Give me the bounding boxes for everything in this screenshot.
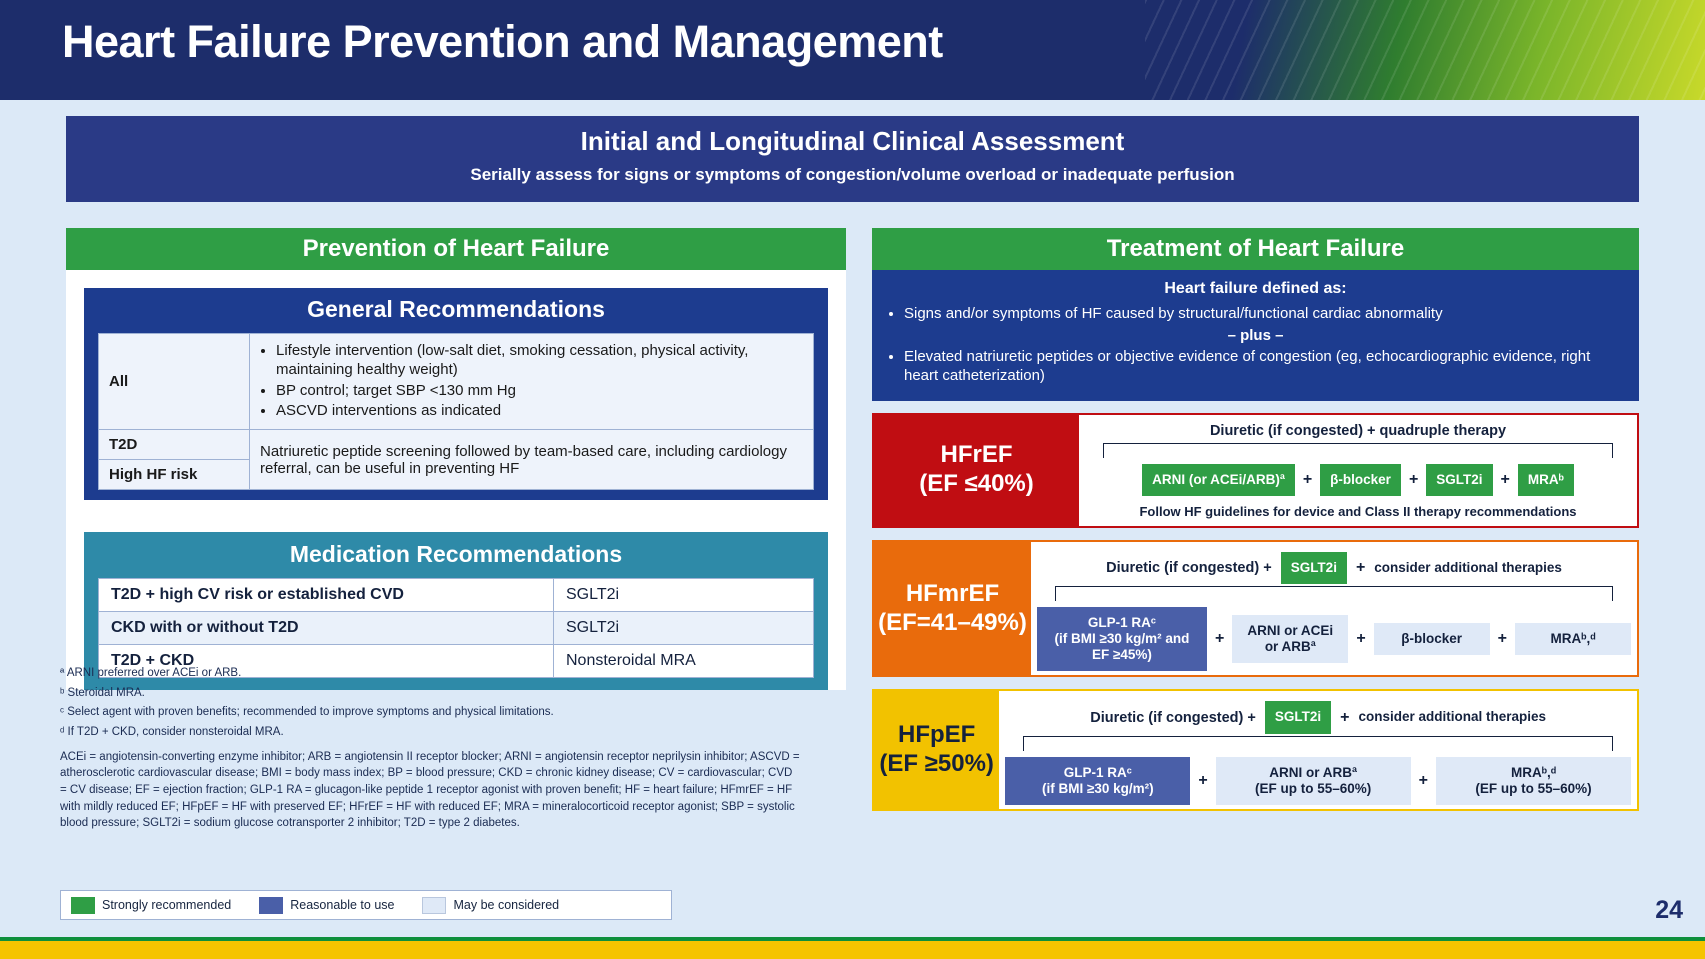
hfref-bracket bbox=[1103, 443, 1613, 458]
hfref-tag-line1: HFrEF bbox=[919, 441, 1034, 470]
heart-failure-definition: Heart failure defined as: Signs and/or s… bbox=[872, 270, 1639, 401]
abbreviations: ACEi = angiotensin-converting enzyme inh… bbox=[60, 749, 800, 832]
assessment-title: Initial and Longitudinal Clinical Assess… bbox=[66, 116, 1639, 157]
footnote-a: ª ARNI preferred over ACEi or ARB. bbox=[60, 665, 800, 682]
plus-sign: + bbox=[1340, 709, 1349, 727]
hfmref-body: Diuretic (if congested) + SGLT2i + consi… bbox=[1031, 542, 1637, 676]
hfref-row: HFrEF (EF ≤40%) Diuretic (if congested) … bbox=[872, 413, 1639, 528]
legend-label: Reasonable to use bbox=[290, 898, 394, 912]
hfref-caption: Diuretic (if congested) + quadruple ther… bbox=[1079, 415, 1637, 441]
treatment-column: Treatment of Heart Failure Heart failure… bbox=[872, 228, 1639, 908]
med-row-key: CKD with or without T2D bbox=[99, 612, 554, 645]
footnote-c: ᶜ Select agent with proven benefits; rec… bbox=[60, 704, 800, 721]
hfmref-tag-line1: HFmrEF bbox=[878, 580, 1027, 609]
med-row-key: T2D + high CV risk or established CVD bbox=[99, 579, 554, 612]
hfpef-tag: HFpEF (EF ≥50%) bbox=[874, 691, 999, 809]
legend-swatch-may-be-considered bbox=[422, 897, 446, 914]
hfpef-body: Diuretic (if congested) + SGLT2i + consi… bbox=[999, 691, 1637, 809]
definition-bullet-1: Signs and/or symptoms of HF caused by st… bbox=[904, 304, 1625, 324]
chip-mra: MRAᵇ bbox=[1518, 464, 1574, 496]
plus-sign: + bbox=[1198, 772, 1207, 790]
hfpef-tag-line2: (EF ≥50%) bbox=[879, 750, 994, 779]
general-recommendations-box: General Recommendations All Lifestyle in… bbox=[84, 288, 828, 500]
table-row: T2D + high CV risk or established CVD SG… bbox=[99, 579, 814, 612]
footer-accent bbox=[0, 937, 1705, 941]
list-item: ASCVD interventions as indicated bbox=[276, 402, 803, 421]
hfref-tag-line2: (EF ≤40%) bbox=[919, 470, 1034, 499]
chip-beta-blocker: β-blocker bbox=[1374, 623, 1490, 655]
hfmref-tag: HFmrEF (EF=41–49%) bbox=[874, 542, 1031, 676]
chip-glp1ra: GLP-1 RAᶜ(if BMI ≥30 kg/m² and EF ≥45%) bbox=[1037, 607, 1207, 672]
plus-sign: + bbox=[1409, 471, 1418, 489]
medication-recommendations-table: T2D + high CV risk or established CVD SG… bbox=[98, 578, 814, 678]
hfpef-tag-line1: HFpEF bbox=[879, 721, 994, 750]
hfmref-chips: GLP-1 RAᶜ(if BMI ≥30 kg/m² and EF ≥45%) … bbox=[1031, 601, 1637, 676]
assessment-subtitle: Serially assess for signs or symptoms of… bbox=[66, 157, 1639, 185]
legend: Strongly recommended Reasonable to use M… bbox=[60, 890, 672, 920]
legend-item: Reasonable to use bbox=[259, 897, 394, 914]
hfmref-top-row: Diuretic (if congested) + SGLT2i + consi… bbox=[1031, 542, 1637, 584]
chip-arni: ARNI (or ACEi/ARB)ª bbox=[1142, 464, 1295, 496]
plus-sign: + bbox=[1303, 471, 1312, 489]
list-item: BP control; target SBP <130 mm Hg bbox=[276, 382, 803, 401]
hfpef-consider-text: consider additional therapies bbox=[1358, 709, 1546, 725]
hfref-tag: HFrEF (EF ≤40%) bbox=[874, 415, 1079, 526]
row-value-t2d-highrisk: Natriuretic peptide screening followed b… bbox=[250, 430, 814, 490]
hfpef-chips: GLP-1 RAᶜ(if BMI ≥30 kg/m²) + ARNI or AR… bbox=[999, 751, 1637, 809]
definition-plus: – plus – bbox=[886, 327, 1625, 344]
chip-mra: MRAᵇ,ᵈ bbox=[1515, 623, 1631, 655]
medication-recommendations-title: Medication Recommendations bbox=[84, 532, 828, 578]
row-value-all: Lifestyle intervention (low-salt diet, s… bbox=[250, 334, 814, 430]
page-header: Heart Failure Prevention and Management bbox=[0, 0, 1705, 100]
plus-sign: + bbox=[1356, 559, 1365, 577]
assessment-band: Initial and Longitudinal Clinical Assess… bbox=[66, 116, 1639, 202]
footnote-d: ᵈ If T2D + CKD, consider nonsteroidal MR… bbox=[60, 724, 800, 741]
plus-sign: + bbox=[1501, 471, 1510, 489]
hfpef-bracket bbox=[1023, 736, 1613, 751]
list-item: Lifestyle intervention (low-salt diet, s… bbox=[276, 342, 803, 380]
chip-sglt2i: SGLT2i bbox=[1265, 701, 1331, 733]
legend-item: May be considered bbox=[422, 897, 559, 914]
treatment-panel-title: Treatment of Heart Failure bbox=[872, 228, 1639, 270]
general-recommendations-table: All Lifestyle intervention (low-salt die… bbox=[98, 333, 814, 490]
chip-beta-blocker: β-blocker bbox=[1320, 464, 1401, 496]
row-label-t2d: T2D bbox=[99, 430, 250, 460]
footnotes: ª ARNI preferred over ACEi or ARB. ᵇ Ste… bbox=[60, 665, 800, 835]
definition-title: Heart failure defined as: bbox=[886, 280, 1625, 298]
chip-arni-acei-arb: ARNI or ACEi or ARBª bbox=[1232, 615, 1348, 663]
hfpef-diuretic-text: Diuretic (if congested) + bbox=[1090, 710, 1256, 726]
prevention-panel-title: Prevention of Heart Failure bbox=[66, 228, 846, 270]
med-row-value: SGLT2i bbox=[554, 612, 814, 645]
chip-glp1ra: GLP-1 RAᶜ(if BMI ≥30 kg/m²) bbox=[1005, 757, 1190, 805]
legend-swatch-reasonable-to-use bbox=[259, 897, 283, 914]
hfref-footer: Follow HF guidelines for device and Clas… bbox=[1079, 500, 1637, 526]
plus-sign: + bbox=[1356, 630, 1365, 648]
legend-label: May be considered bbox=[453, 898, 559, 912]
hfmref-diuretic-text: Diuretic (if congested) + bbox=[1106, 560, 1272, 576]
plus-sign: + bbox=[1215, 630, 1224, 648]
chip-sglt2i: SGLT2i bbox=[1426, 464, 1492, 496]
hfref-chips: ARNI (or ACEi/ARB)ª + β-blocker + SGLT2i… bbox=[1079, 458, 1637, 500]
table-row: All Lifestyle intervention (low-salt die… bbox=[99, 334, 814, 430]
general-recommendations-title: General Recommendations bbox=[84, 288, 828, 333]
prevention-panel-body: General Recommendations All Lifestyle in… bbox=[66, 270, 846, 690]
table-row: CKD with or without T2D SGLT2i bbox=[99, 612, 814, 645]
plus-sign: + bbox=[1498, 630, 1507, 648]
legend-item: Strongly recommended bbox=[71, 897, 231, 914]
hfref-body: Diuretic (if congested) + quadruple ther… bbox=[1079, 415, 1637, 526]
footer-bar bbox=[0, 937, 1705, 959]
hfmref-tag-line2: (EF=41–49%) bbox=[878, 609, 1027, 638]
hfmref-consider-text: consider additional therapies bbox=[1374, 560, 1562, 576]
hfmref-bracket bbox=[1055, 586, 1613, 601]
hfmref-row: HFmrEF (EF=41–49%) Diuretic (if congeste… bbox=[872, 540, 1639, 678]
hfpef-top-row: Diuretic (if congested) + SGLT2i + consi… bbox=[999, 691, 1637, 733]
table-row: T2D Natriuretic peptide screening follow… bbox=[99, 430, 814, 460]
chip-arni-arb: ARNI or ARBª(EF up to 55–60%) bbox=[1216, 757, 1411, 805]
footnote-b: ᵇ Steroidal MRA. bbox=[60, 685, 800, 702]
plus-sign: + bbox=[1419, 772, 1428, 790]
row-label-high-hf-risk: High HF risk bbox=[99, 460, 250, 490]
page-title: Heart Failure Prevention and Management bbox=[62, 16, 943, 68]
med-row-value: SGLT2i bbox=[554, 579, 814, 612]
chip-sglt2i: SGLT2i bbox=[1281, 552, 1347, 584]
legend-swatch-strongly-recommended bbox=[71, 897, 95, 914]
hfpef-row: HFpEF (EF ≥50%) Diuretic (if congested) … bbox=[872, 689, 1639, 811]
chip-mra: MRAᵇ,ᵈ(EF up to 55–60%) bbox=[1436, 757, 1631, 805]
page-number: 24 bbox=[1655, 896, 1683, 925]
row-label-all: All bbox=[99, 334, 250, 430]
header-decoration bbox=[1145, 0, 1705, 100]
definition-bullet-2: Elevated natriuretic peptides or objecti… bbox=[904, 347, 1625, 386]
legend-label: Strongly recommended bbox=[102, 898, 231, 912]
